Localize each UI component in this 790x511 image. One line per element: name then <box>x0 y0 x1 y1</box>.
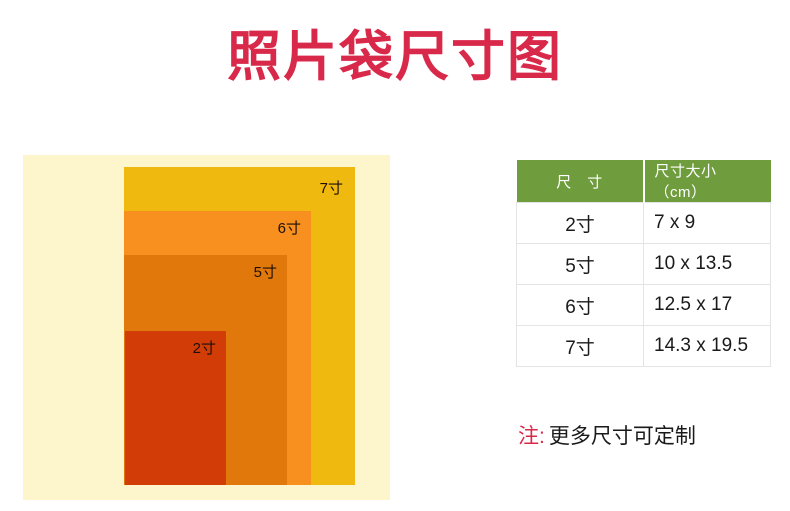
size-diagram-panel: 7寸 6寸 5寸 2寸 <box>23 155 390 500</box>
size-rect-2cun: 2寸 <box>125 331 226 485</box>
table-header-dimension: 尺寸大小（cm） <box>644 160 771 203</box>
table-cell-dimension: 12.5 x 17 <box>644 285 771 326</box>
table-row: 2寸 7 x 9 <box>517 203 771 244</box>
note-text: 更多尺寸可定制 <box>549 425 696 448</box>
table-header-row: 尺 寸 尺寸大小（cm） <box>517 160 771 203</box>
table-cell-dimension: 10 x 13.5 <box>644 244 771 285</box>
size-rect-label-6cun: 6寸 <box>278 221 301 236</box>
table-cell-size: 5寸 <box>517 244 644 285</box>
note: 注:更多尺寸可定制 <box>518 424 696 450</box>
size-rect-label-5cun: 5寸 <box>254 265 277 280</box>
table-cell-dimension: 7 x 9 <box>644 203 771 244</box>
page-title: 照片袋尺寸图 <box>0 26 790 88</box>
size-table: 尺 寸 尺寸大小（cm） 2寸 7 x 9 5寸 10 x 13.5 6寸 12… <box>516 160 771 367</box>
table-cell-size: 6寸 <box>517 285 644 326</box>
table-header-size: 尺 寸 <box>517 160 644 203</box>
table-row: 7寸 14.3 x 19.5 <box>517 326 771 367</box>
table-cell-size: 2寸 <box>517 203 644 244</box>
size-rect-label-7cun: 7寸 <box>320 181 343 196</box>
table-row: 6寸 12.5 x 17 <box>517 285 771 326</box>
table-cell-dimension: 14.3 x 19.5 <box>644 326 771 367</box>
size-rect-label-2cun: 2寸 <box>193 341 216 356</box>
table-cell-size: 7寸 <box>517 326 644 367</box>
note-prefix: 注: <box>518 425 545 448</box>
table-row: 5寸 10 x 13.5 <box>517 244 771 285</box>
